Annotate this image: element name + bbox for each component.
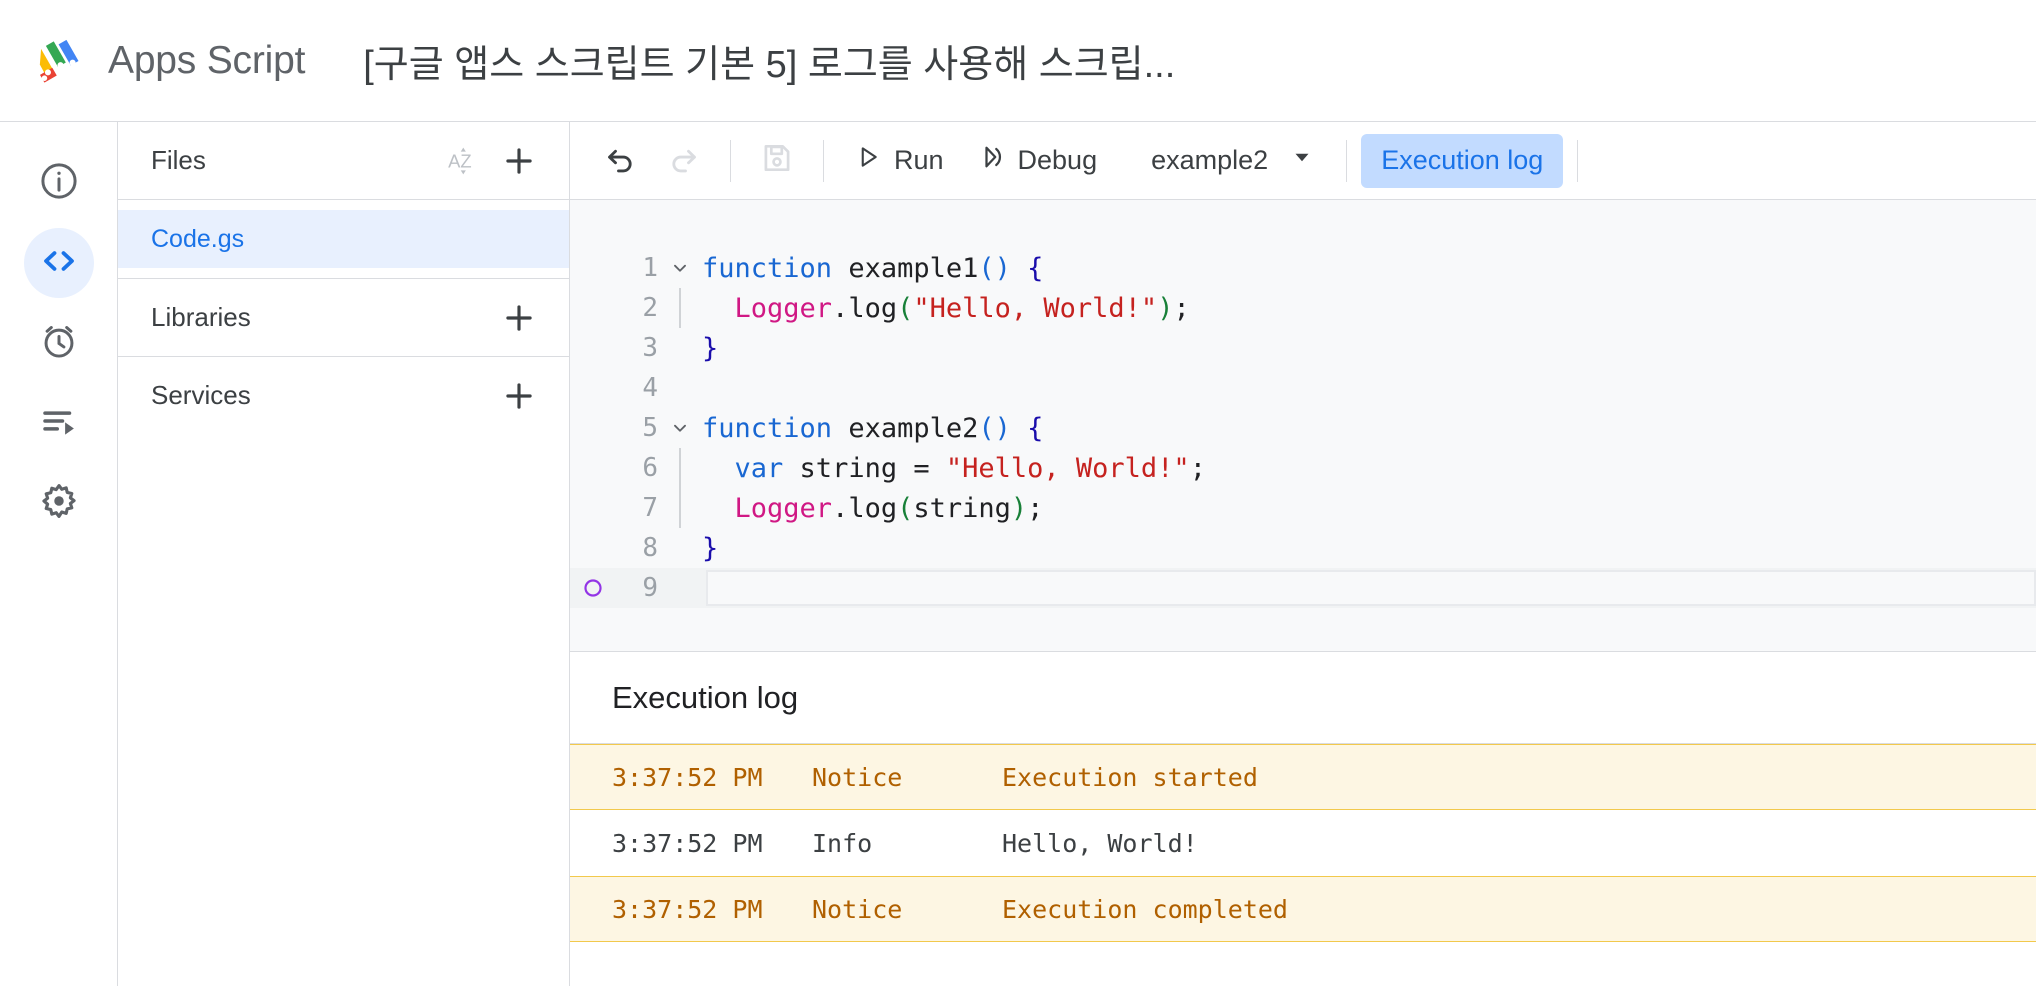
file-item-code-gs[interactable]: Code.gs	[118, 210, 569, 268]
files-title: Files	[151, 145, 433, 176]
execution-log-panel: Execution log 3:37:52 PMNoticeExecution …	[570, 652, 2036, 986]
log-timestamp: 3:37:52 PM	[612, 895, 812, 924]
sidebar-item-editor[interactable]	[24, 228, 94, 298]
log-timestamp: 3:37:52 PM	[612, 829, 812, 858]
line-number: 8	[616, 533, 658, 563]
libraries-section[interactable]: Libraries	[118, 278, 569, 356]
log-level: Notice	[812, 895, 1002, 924]
files-panel: Files AZ Code.gs Libraries	[117, 122, 570, 986]
libraries-title: Libraries	[151, 302, 489, 333]
code-brackets-icon	[38, 240, 80, 287]
file-list: Code.gs	[118, 200, 569, 278]
log-timestamp: 3:37:52 PM	[612, 763, 812, 792]
active-line-highlight	[706, 570, 2036, 606]
indent-guide	[658, 488, 702, 528]
line-number: 4	[616, 373, 658, 403]
line-number: 3	[616, 333, 658, 363]
line-number: 5	[616, 413, 658, 443]
line-number: 1	[616, 253, 658, 283]
nav-rail	[0, 122, 117, 986]
info-circle-icon	[38, 160, 80, 207]
log-row: 3:37:52 PMNoticeExecution started	[570, 744, 2036, 810]
app-body: Files AZ Code.gs Libraries	[0, 122, 2036, 986]
sidebar-item-settings[interactable]	[24, 468, 94, 538]
code-text: Logger.log(string);	[702, 493, 1043, 524]
sidebar-item-overview[interactable]	[24, 148, 94, 218]
run-label: Run	[894, 145, 944, 176]
indent-guide	[658, 448, 702, 488]
execution-log-title: Execution log	[570, 652, 2036, 744]
svg-text:AZ: AZ	[448, 150, 472, 171]
file-name: Code.gs	[151, 225, 244, 254]
debug-button[interactable]: Debug	[960, 134, 1114, 188]
line-number: 7	[616, 493, 658, 523]
code-line[interactable]: 2 Logger.log("Hello, World!");	[570, 288, 2036, 328]
log-message: Hello, World!	[1002, 829, 2036, 858]
toolbar-divider-2	[823, 140, 824, 182]
code-text: }	[702, 333, 718, 364]
brand-name: Apps Script	[108, 39, 305, 83]
undo-button[interactable]	[592, 133, 648, 189]
execution-log-button[interactable]: Execution log	[1361, 134, 1563, 188]
debug-label: Debug	[1018, 145, 1098, 176]
toolbar-divider-3	[1346, 140, 1347, 182]
chevron-down-icon	[1290, 145, 1314, 176]
log-message: Execution started	[1002, 763, 2036, 792]
code-line[interactable]: 4	[570, 368, 2036, 408]
log-message: Execution completed	[1002, 895, 2036, 924]
executions-list-icon	[38, 400, 80, 447]
run-button[interactable]: Run	[838, 134, 960, 188]
code-line[interactable]: 7 Logger.log(string);	[570, 488, 2036, 528]
code-text: function example1() {	[702, 253, 1043, 284]
main-area: Run Debug example2	[570, 122, 2036, 986]
log-level: Notice	[812, 763, 1002, 792]
fold-chevron-icon[interactable]	[658, 257, 702, 279]
sort-az-icon[interactable]: AZ	[437, 135, 489, 187]
fold-chevron-icon[interactable]	[658, 417, 702, 439]
toolbar-divider-4	[1577, 140, 1578, 182]
services-title: Services	[151, 380, 489, 411]
log-row: 3:37:52 PMNoticeExecution completed	[570, 876, 2036, 942]
code-line[interactable]: 5function example2() {	[570, 408, 2036, 448]
code-text: }	[702, 533, 718, 564]
services-section[interactable]: Services	[118, 356, 569, 434]
sidebar-item-triggers[interactable]	[24, 308, 94, 378]
indent-guide	[658, 288, 702, 328]
alarm-clock-icon	[38, 320, 80, 367]
apps-script-logo-icon[interactable]	[30, 30, 92, 92]
sidebar-item-executions[interactable]	[24, 388, 94, 458]
add-file-button[interactable]	[493, 135, 545, 187]
add-library-button[interactable]	[493, 292, 545, 344]
breakpoint-icon[interactable]	[570, 577, 616, 599]
code-line[interactable]: 3}	[570, 328, 2036, 368]
redo-button[interactable]	[656, 133, 712, 189]
code-text: var string = "Hello, World!";	[702, 453, 1206, 484]
play-triangle-icon	[854, 143, 882, 178]
function-select[interactable]: example2	[1133, 134, 1332, 188]
line-number: 9	[616, 573, 658, 603]
function-select-value: example2	[1151, 145, 1268, 176]
code-editor[interactable]: 1function example1() {2 Logger.log("Hell…	[570, 200, 2036, 652]
line-number: 2	[616, 293, 658, 323]
save-button[interactable]	[749, 133, 805, 189]
redo-icon	[666, 140, 702, 181]
debug-icon	[976, 142, 1006, 179]
undo-icon	[602, 140, 638, 181]
save-icon	[759, 140, 795, 181]
files-panel-header: Files AZ	[118, 122, 569, 200]
app-header: Apps Script [구글 앱스 스크립트 기본 5] 로그를 사용해 스크…	[0, 0, 2036, 122]
code-text: function example2() {	[702, 413, 1043, 444]
execution-log-rows: 3:37:52 PMNoticeExecution started3:37:52…	[570, 744, 2036, 986]
code-line[interactable]: 6 var string = "Hello, World!";	[570, 448, 2036, 488]
add-service-button[interactable]	[493, 370, 545, 422]
log-level: Info	[812, 829, 1002, 858]
editor-toolbar: Run Debug example2	[570, 122, 2036, 200]
document-title[interactable]: [구글 앱스 스크립트 기본 5] 로그를 사용해 스크립...	[363, 33, 1175, 88]
code-line[interactable]: 1function example1() {	[570, 248, 2036, 288]
code-text: Logger.log("Hello, World!");	[702, 293, 1190, 324]
log-row: 3:37:52 PMInfoHello, World!	[570, 810, 2036, 876]
toolbar-divider	[730, 140, 731, 182]
code-line[interactable]: 9	[570, 568, 2036, 608]
gear-icon	[38, 480, 80, 527]
line-number: 6	[616, 453, 658, 483]
code-line[interactable]: 8}	[570, 528, 2036, 568]
